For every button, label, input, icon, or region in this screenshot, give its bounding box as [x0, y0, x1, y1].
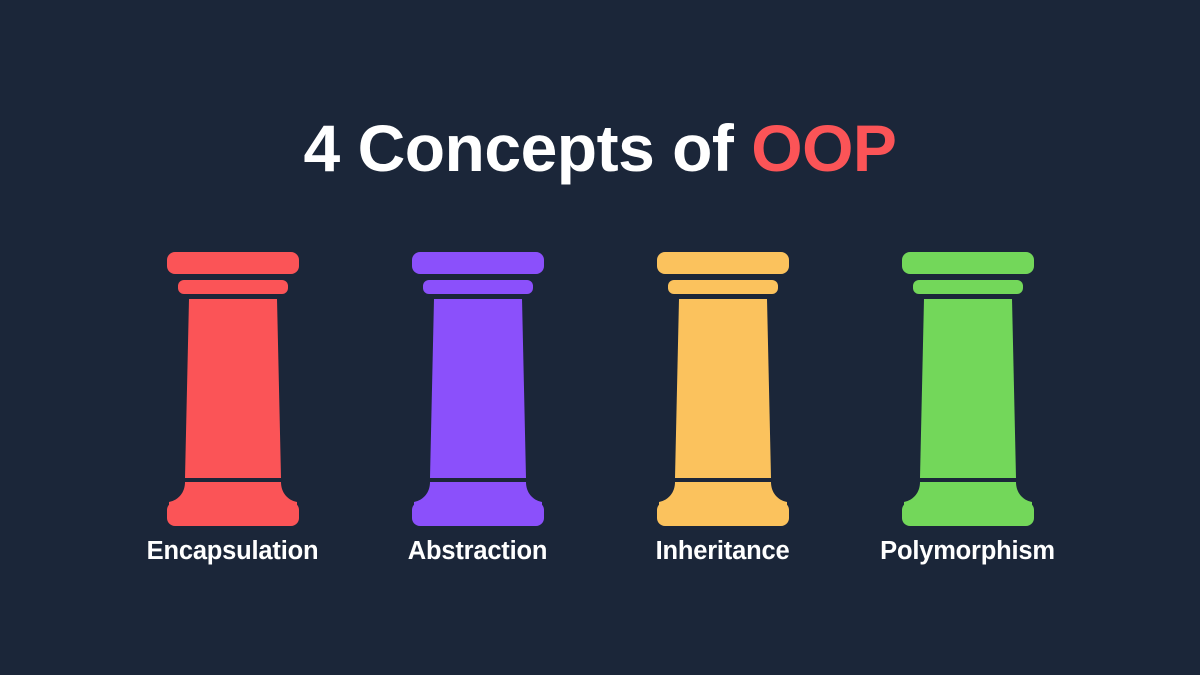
pillar-item-abstraction: Abstraction	[384, 250, 572, 565]
pillar-label: Abstraction	[408, 537, 547, 565]
pillar-icon	[898, 250, 1038, 528]
slide-canvas: 4 Concepts of OOP Encapsulation	[0, 0, 1200, 675]
pillar-item-encapsulation: Encapsulation	[139, 250, 327, 565]
pillar-icon	[408, 250, 548, 528]
pillar-label: Encapsulation	[147, 537, 319, 565]
pillar-label: Polymorphism	[880, 537, 1055, 565]
pillar-icon	[163, 250, 303, 528]
pillar-label: Inheritance	[656, 537, 790, 565]
title-main-text: 4 Concepts of	[304, 111, 752, 185]
pillar-item-inheritance: Inheritance	[629, 250, 817, 565]
pillar-row: Encapsulation Abstraction	[0, 250, 1200, 590]
title-accent-text: OOP	[751, 111, 896, 185]
page-title: 4 Concepts of OOP	[0, 110, 1200, 188]
pillar-icon	[653, 250, 793, 528]
pillar-item-polymorphism: Polymorphism	[874, 250, 1062, 565]
